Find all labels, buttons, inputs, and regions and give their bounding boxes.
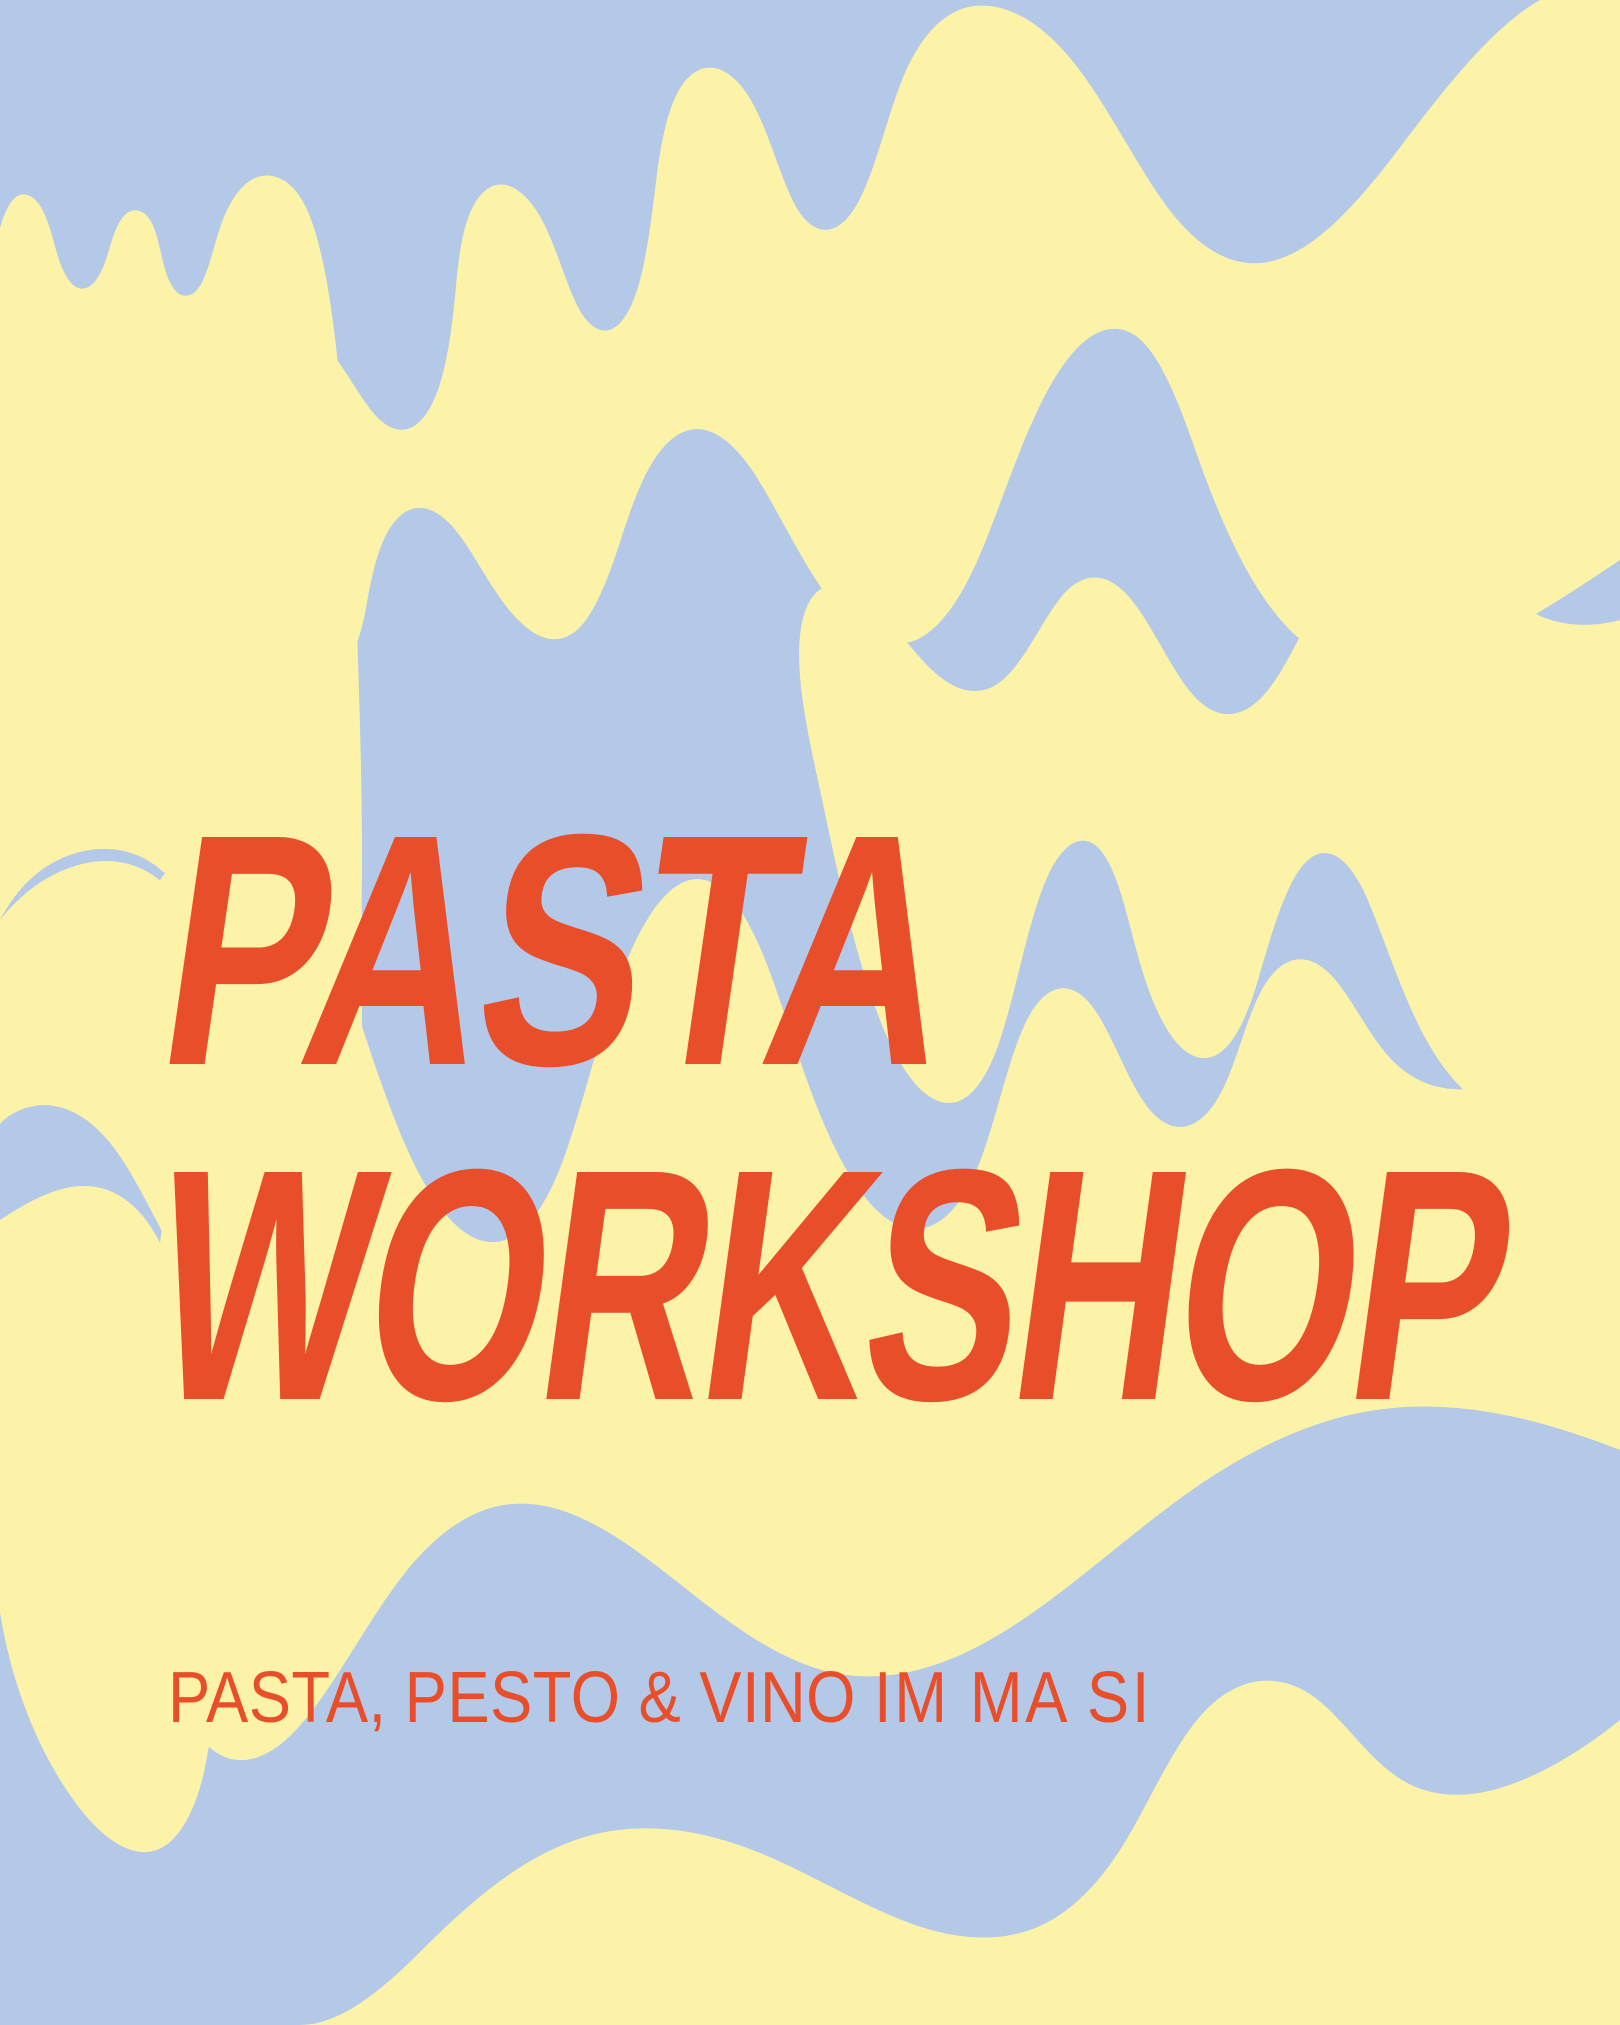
poster-canvas: PASTA WORKSHOP PASTA, PESTO & VINO IM MA… [0,0,1620,2025]
subtitle-tail: IM MA SI [874,1658,1152,1738]
subtitle: PASTA, PESTO & VINO IM MA SI [168,1662,1152,1734]
subtitle-lead: PASTA, PESTO & VINO [168,1658,874,1738]
